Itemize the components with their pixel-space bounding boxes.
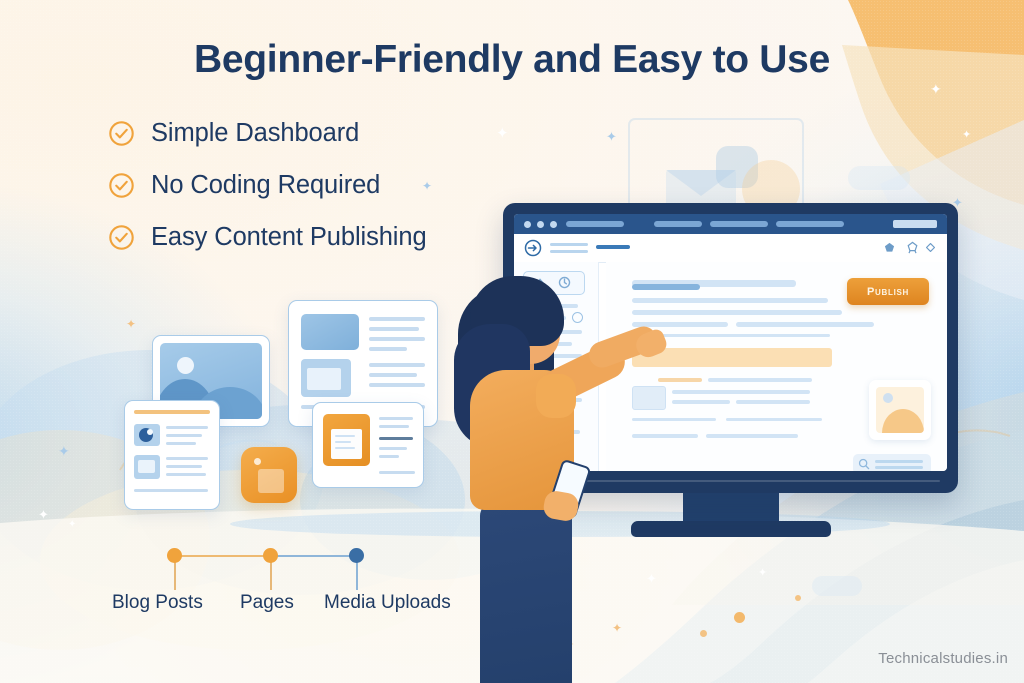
checklist-item-label: Simple Dashboard: [151, 119, 359, 148]
editor-content-area: Publish: [606, 262, 947, 471]
card-text-line: [369, 327, 419, 331]
editor-text-line: [632, 310, 842, 315]
toolbar-active-item[interactable]: [596, 245, 630, 249]
search-placeholder-line: [875, 466, 923, 469]
editor-title-highlight: [632, 284, 700, 290]
person-legs: [480, 502, 572, 683]
editor-text-line: [672, 400, 730, 404]
search-icon: [858, 458, 870, 470]
editor-text-line: [726, 418, 822, 421]
decorative-dot: [734, 612, 745, 623]
tile-square: [258, 469, 284, 493]
search-field[interactable]: [853, 454, 931, 471]
timeline-label: Blog Posts: [112, 592, 203, 614]
timeline-label: Pages: [240, 592, 294, 614]
sparkle-icon: ✦: [58, 444, 70, 458]
doc-line: [335, 435, 355, 437]
sun-shape: [177, 357, 194, 374]
thumbnail-mountain: [882, 409, 924, 433]
circle-check-icon: [108, 172, 135, 199]
editor-text-line: [632, 418, 716, 421]
card-text-line: [379, 417, 413, 420]
checklist-item-label: No Coding Required: [151, 171, 380, 200]
card-text-line: [166, 465, 202, 468]
feature-checklist: Simple Dashboard No Coding Required Easy…: [108, 112, 427, 268]
card-text-line: [379, 425, 409, 428]
decorative-dot: [700, 630, 707, 637]
editor-text-line: [672, 390, 810, 394]
doc-line: [335, 447, 355, 449]
circle-check-icon: [108, 120, 135, 147]
editor-text-line: [708, 378, 812, 382]
checklist-item: No Coding Required: [108, 164, 427, 206]
card-accent-bar: [134, 410, 210, 414]
card-text-line: [379, 447, 407, 450]
checklist-item: Simple Dashboard: [108, 112, 427, 154]
sparkle-icon: ✦: [496, 126, 509, 141]
search-placeholder-line: [875, 460, 923, 463]
browser-tab[interactable]: [776, 221, 844, 227]
card-text-line: [166, 473, 206, 476]
editor-text-line: [736, 400, 810, 404]
editor-embed-block: [632, 386, 666, 410]
circle-check-icon: [108, 224, 135, 251]
window-close-dot[interactable]: [524, 221, 531, 228]
diamond-icon[interactable]: [926, 243, 935, 252]
card-image-placeholder: [301, 314, 359, 350]
card-text-line: [166, 426, 208, 429]
sparkle-icon: ✦: [126, 318, 136, 330]
editor-text-line: [736, 322, 874, 327]
card-text-line: [134, 489, 208, 492]
pentagon-icon[interactable]: [884, 242, 895, 253]
window-minimize-dot[interactable]: [537, 221, 544, 228]
badge-icon[interactable]: [906, 241, 919, 254]
widget-placeholder: [134, 455, 160, 479]
window-maximize-dot[interactable]: [550, 221, 557, 228]
sparkle-icon: ✦: [646, 572, 657, 585]
editor-text-line: [706, 434, 798, 438]
envelope-flap-icon: [666, 170, 736, 196]
browser-tab[interactable]: [566, 221, 624, 227]
checklist-item-label: Easy Content Publishing: [151, 223, 427, 252]
watermark: Technicalstudies.in: [878, 650, 1008, 667]
card-text-line: [369, 337, 425, 341]
browser-tab[interactable]: [710, 221, 768, 227]
thumbnail-sun: [883, 393, 893, 403]
sparkle-icon: ✦: [606, 130, 617, 143]
widget-inner: [138, 460, 155, 473]
card-text-line: [369, 363, 425, 367]
checklist-item: Easy Content Publishing: [108, 216, 427, 258]
toolbar-line: [550, 250, 588, 253]
sparkle-icon: ✦: [930, 82, 942, 96]
page-title: Beginner-Friendly and Easy to Use: [0, 38, 1024, 82]
sparkle-icon: ✦: [962, 130, 971, 141]
editor-text-line: [632, 434, 698, 438]
sparkle-icon: ✦: [68, 520, 76, 530]
card-text-line: [166, 442, 196, 445]
orange-document-card: [312, 402, 424, 488]
cloud-icon: [848, 166, 910, 190]
editor-text-line: [658, 378, 702, 382]
timeline-node[interactable]: [349, 548, 364, 563]
card-text-line: [379, 437, 413, 440]
card-text-line: [166, 434, 202, 437]
address-bar[interactable]: [893, 220, 937, 228]
analytics-card: [124, 400, 220, 510]
timeline-label: Media Uploads: [324, 592, 451, 614]
image-thumbnail-card[interactable]: [869, 380, 931, 440]
sparkle-icon: ✦: [38, 508, 49, 521]
media-tile: [241, 447, 297, 503]
card-text-line: [369, 317, 425, 321]
monitor-base: [631, 521, 831, 537]
chart-placeholder: [134, 424, 160, 446]
circle-arrow-logo-icon[interactable]: [524, 239, 542, 257]
illustration-canvas: ✦ ✦ ✦ ✦ ✦ ✦ ✦ ✦ ✦ ✦ ✦ ✦ ✦ ✦ Beginner-Fri…: [0, 0, 1024, 683]
card-text-line: [166, 457, 208, 460]
browser-tab[interactable]: [654, 221, 702, 227]
toolbar-line: [550, 243, 588, 246]
image-thumbnail-icon: [876, 387, 924, 433]
pie-slice: [147, 429, 153, 435]
cloud-icon: [812, 576, 862, 596]
card-text-line: [369, 347, 407, 351]
publish-button[interactable]: Publish: [847, 278, 929, 305]
card-text-line: [369, 383, 425, 387]
card-widget-inner: [307, 368, 341, 390]
timeline-node[interactable]: [263, 548, 278, 563]
tile-dot: [254, 458, 261, 465]
browser-title-bar: [514, 214, 947, 234]
decorative-dot: [795, 595, 801, 601]
timeline-connector: [168, 555, 264, 557]
app-toolbar: [514, 234, 947, 263]
person-sleeve: [536, 374, 576, 418]
document-tile-icon: [323, 414, 370, 466]
card-text-line: [379, 455, 399, 458]
document-page-shape: [331, 429, 362, 459]
card-text-line: [369, 373, 417, 377]
card-widget-placeholder: [301, 359, 351, 397]
card-text-line: [379, 471, 415, 474]
sparkle-icon: ✦: [758, 568, 767, 579]
timeline-node[interactable]: [167, 548, 182, 563]
editor-text-line: [632, 298, 828, 303]
person-illustration: [440, 270, 630, 683]
doc-line: [335, 441, 351, 443]
